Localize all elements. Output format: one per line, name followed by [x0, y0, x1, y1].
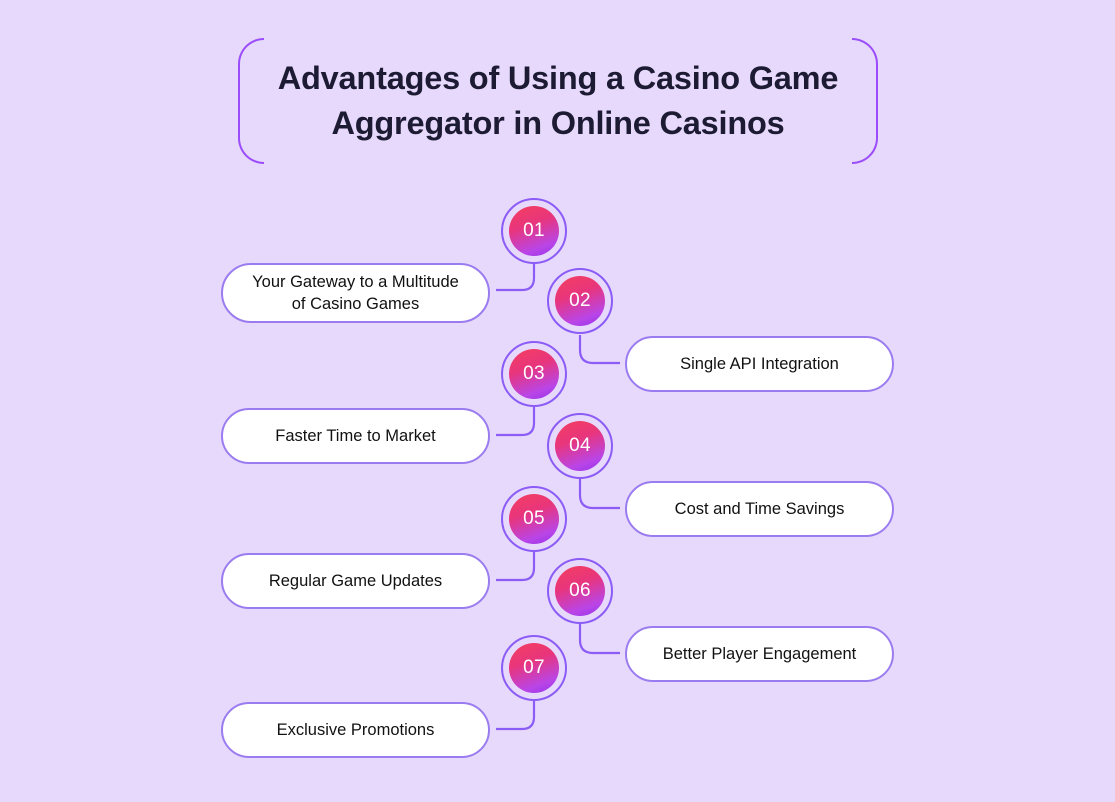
- step-badge-06[interactable]: 06: [547, 558, 613, 624]
- step-number-05: 05: [509, 494, 559, 544]
- step-number-02: 02: [555, 276, 605, 326]
- advantages-diagram: 01 02 03 04 05 06 07 Your Gateway to a M…: [0, 0, 1115, 802]
- step-label-03[interactable]: Faster Time to Market: [221, 408, 490, 464]
- step-label-04[interactable]: Cost and Time Savings: [625, 481, 894, 537]
- step-label-05[interactable]: Regular Game Updates: [221, 553, 490, 609]
- step-badge-02[interactable]: 02: [547, 268, 613, 334]
- step-number-07: 07: [509, 643, 559, 693]
- step-badge-05[interactable]: 05: [501, 486, 567, 552]
- step-badge-03[interactable]: 03: [501, 341, 567, 407]
- step-number-01: 01: [509, 206, 559, 256]
- step-label-01[interactable]: Your Gateway to a Multitude of Casino Ga…: [221, 263, 490, 323]
- step-badge-07[interactable]: 07: [501, 635, 567, 701]
- step-label-02[interactable]: Single API Integration: [625, 336, 894, 392]
- step-badge-01[interactable]: 01: [501, 198, 567, 264]
- step-label-07[interactable]: Exclusive Promotions: [221, 702, 490, 758]
- step-number-03: 03: [509, 349, 559, 399]
- step-number-04: 04: [555, 421, 605, 471]
- step-number-06: 06: [555, 566, 605, 616]
- step-badge-04[interactable]: 04: [547, 413, 613, 479]
- step-label-06[interactable]: Better Player Engagement: [625, 626, 894, 682]
